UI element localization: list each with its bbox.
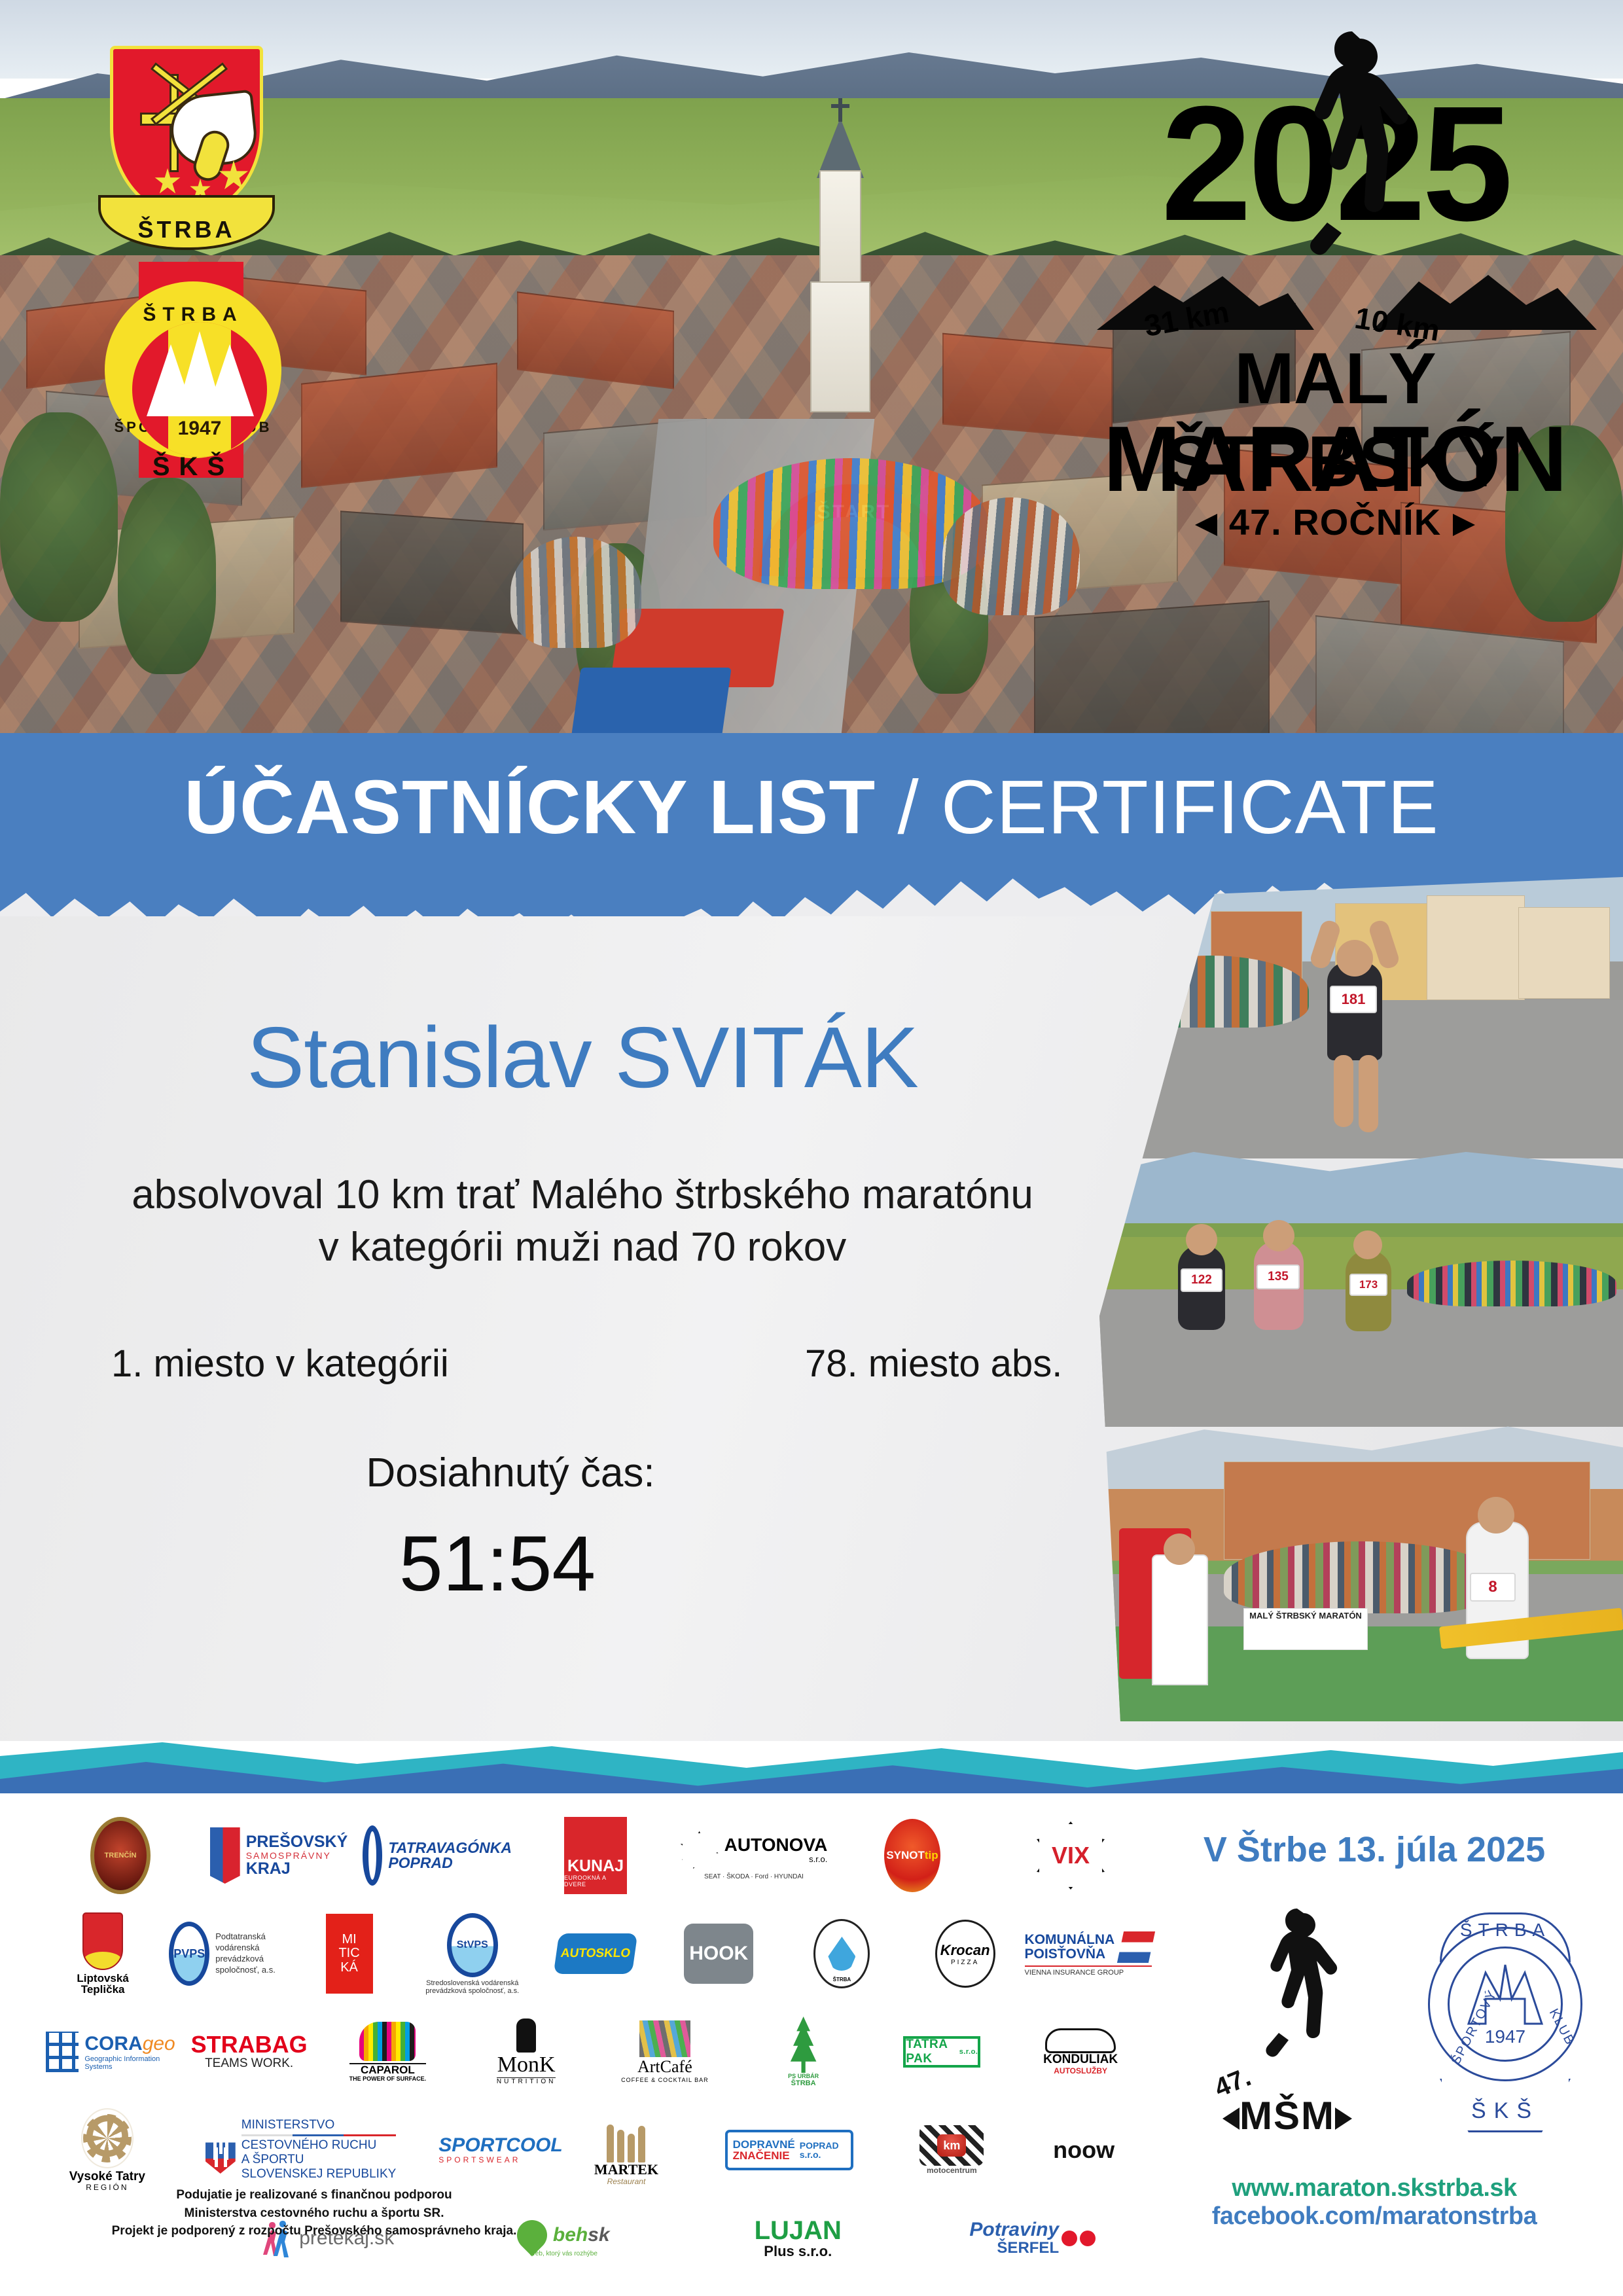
stvps-icon: StVPS <box>447 1913 498 1977</box>
sponsor-label: DOPRAVNÉ <box>733 2139 795 2150</box>
sponsor-hook[interactable]: HOOK <box>662 1915 776 1992</box>
sponsor-sublabel: s.r.o. <box>724 1854 828 1864</box>
crest-ribbon-label: ŠTRBA <box>98 195 275 250</box>
sponsor-label-4: SLOVENSKEJ REPUBLIKY <box>241 2167 397 2181</box>
sponsor-label-2: ZNAČENIE <box>733 2150 795 2161</box>
sks-stamp-abbrev: ŠKŠ <box>1440 2079 1571 2132</box>
funding-note: Podujatie je realizované s finančnou pod… <box>72 2186 556 2240</box>
krocan-pizza-icon: Krocan PIZZA <box>935 1920 995 1988</box>
sponsor-dopravne-znacenie[interactable]: DOPRAVNÉ ZNAČENIE POPRAD s.r.o. <box>697 2111 882 2189</box>
sponsor-label: ArtCafé <box>621 2057 709 2077</box>
sponsor-label-2: POPRAD <box>388 1856 512 1871</box>
sponsor-stvps[interactable]: StVPS Stredoslovenská vodárenská prevádz… <box>416 1915 529 1992</box>
sponsor-label-3: A ŠPORTU <box>241 2153 397 2167</box>
sponsor-row: TRENČÍN PREŠOVSKÝ SAMOSPRÁVNY KRAJ <box>46 1806 1145 1905</box>
pvps-icon: PVPS <box>169 1922 209 1986</box>
car-outline-icon <box>1045 2028 1116 2053</box>
sponsor-label: MonK <box>497 2053 556 2077</box>
sponsor-label-2: geo <box>143 2033 175 2054</box>
sponsor-label-2: Teplička <box>77 1984 128 1995</box>
bib-number: 8 <box>1470 1573 1516 1602</box>
sponsor-liptovska-teplicka[interactable]: Liptovská Teplička <box>46 1915 160 1992</box>
sponsor-label: VIX <box>1052 1842 1090 1869</box>
monk-runner-icon <box>516 2018 536 2053</box>
certificate-title: ÚČASTNÍCKY LIST / CERTIFICATE <box>0 763 1623 851</box>
sponsor-label: LUJAN <box>755 2217 842 2244</box>
komunalna-flag-icon <box>1117 1931 1155 1963</box>
sponsor-ps-urbar-strba[interactable]: PS URBÁR ŠTRBA <box>739 2013 868 2090</box>
event-name-line2: MARATÓN <box>1073 406 1597 513</box>
contact-links: www.maraton.skstrba.sk facebook.com/mara… <box>1152 2174 1597 2231</box>
sponsor-label: AUTONOVA <box>724 1836 828 1855</box>
sponsor-row: CORAgeo Geographic Information Systems S… <box>46 2003 1145 2101</box>
sponsor-sublabel: AUTOSLUŽBY <box>1043 2066 1118 2075</box>
sponsor-caparol[interactable]: CAPAROL THE POWER OF SURFACE. <box>323 2013 453 2090</box>
sponsor-sublabel: Restaurant <box>594 2177 658 2186</box>
athlete-name: Stanislav SVITÁK <box>72 1008 1093 1107</box>
sponsor-label-2: KRAJ <box>246 1861 348 1878</box>
sponsor-program-trencin[interactable]: TRENČÍN <box>46 1817 195 1894</box>
water-drop-icon <box>828 1937 855 1971</box>
sponsor-label: TATRA PAK <box>906 2037 956 2066</box>
sponsor-konduliak[interactable]: KONDULIAK AUTOSLUŽBY <box>1016 2013 1145 2090</box>
sponsor-sublabel: THE POWER OF SURFACE. <box>349 2075 427 2082</box>
sponsor-komunalna-poistovna[interactable]: KOMUNÁLNA POISŤOVŇA VIENNA INSURANCE GRO… <box>1031 1915 1145 1992</box>
sponsor-label: MARTEK <box>594 2162 658 2177</box>
sponsor-sublabel: PIZZA <box>951 1959 979 1966</box>
category-place: 1. miesto v kategórii <box>111 1342 449 1386</box>
funding-note-line-3: Projekt je podporený z rozpočtu Prešovsk… <box>72 2222 556 2240</box>
edition-label: 47. ROČNÍK <box>1229 501 1441 543</box>
sponsor-row: Liptovská Teplička PVPS Podtatranská vod… <box>46 1905 1145 2003</box>
sponsor-tatrapak[interactable]: TATRA PAKs.r.o. <box>878 2013 1007 2090</box>
sponsor-label: KONDULIAK <box>1043 2053 1118 2066</box>
sponsor-label: Liptovská <box>77 1973 128 1984</box>
sponsor-autosklo[interactable]: AUTOSKLO <box>539 1915 652 1992</box>
sponsor-label: KUNAJ <box>567 1858 624 1875</box>
sponsor-label: MINISTERSTVO <box>241 2118 397 2132</box>
tatrapak-icon: TATRA PAKs.r.o. <box>903 2036 980 2068</box>
pd-strba-icon: ŠTRBA <box>813 1919 870 1988</box>
msm-abbrev-wrap: MŠM <box>1222 2093 1352 2138</box>
sks-abbrev: ŠKŠ <box>98 452 288 482</box>
sponsor-martek[interactable]: MARTEK Restaurant <box>565 2111 688 2189</box>
sponsor-label: CORA <box>84 2033 142 2054</box>
sponsor-lujan-plus[interactable]: LUJAN Plus s.r.o. <box>685 2200 911 2277</box>
dot-icon-1 <box>1061 2231 1077 2246</box>
time-label: Dosiahnutý čas: <box>72 1450 949 1496</box>
sponsor-label: HOOK <box>689 1943 748 1965</box>
bib-number: 135 <box>1257 1265 1300 1289</box>
sponsor-label: SYNOT <box>886 1849 925 1862</box>
photo-finish-line: MALÝ ŠTRBSKÝ MARATÓN 8 <box>1099 1424 1623 1721</box>
sponsor-label-2: ŠTRBA <box>787 2079 821 2087</box>
vysoke-tatry-icon <box>81 2108 134 2168</box>
potraviny-serfel-icon: Potraviny ŠERFEL <box>969 2220 1096 2256</box>
sponsor-monk-nutrition[interactable]: MonK NUTRITION <box>461 2013 591 2090</box>
title-english: CERTIFICATE <box>941 764 1439 850</box>
bib-number: 181 <box>1330 986 1377 1013</box>
sponsor-label: noow <box>1053 2136 1115 2164</box>
church-spire <box>817 118 864 178</box>
achievement-line-2: v kategórii muži nad 70 rokov <box>72 1224 1093 1270</box>
sponsor-potraviny-serfel[interactable]: Potraviny ŠERFEL <box>920 2200 1146 2277</box>
sks-outer-ring: ŠTRBA ŠPORTOVÝ KLUB 1947 <box>105 281 281 458</box>
vix-icon: VIX <box>1037 1821 1105 1890</box>
sponsor-label-2: tip <box>925 1849 938 1862</box>
slovak-coat-of-arms-icon <box>205 2126 236 2174</box>
sponsor-label: CAPAROL <box>349 2063 427 2075</box>
sponsor-ministerstvo[interactable]: MINISTERSTVO CESTOVNÉHO RUCHU A ŠPORTU S… <box>178 2111 424 2189</box>
sponsor-label: km <box>937 2134 966 2157</box>
sponsor-label: STRABAG <box>191 2033 308 2057</box>
tatravagonka-icon <box>363 1825 382 1886</box>
sponsor-label-2: TIC <box>338 1946 359 1961</box>
bib-number: 173 <box>1349 1274 1387 1296</box>
sponsor-label: KOMUNÁLNA <box>1025 1933 1115 1946</box>
sponsor-krocan-pizza[interactable]: Krocan PIZZA <box>908 1915 1022 1992</box>
sponsor-pvps[interactable]: PVPS Podtatranská vodárenská prevádzková… <box>169 1915 283 1992</box>
sponsor-kunaj[interactable]: KUNAJ EUROOKNÁ A DVERE <box>521 1817 670 1894</box>
sponsor-label: ŠTRBA <box>815 1977 868 1982</box>
facebook-link[interactable]: facebook.com/maratonstrba <box>1152 2202 1597 2231</box>
sponsor-noow[interactable]: noow <box>1022 2111 1145 2189</box>
sks-club-logo: ŠTRBA ŠPORTOVÝ KLUB 1947 ŠKŠ <box>98 262 288 478</box>
sponsor-strabag[interactable]: STRABAG TEAMS WORK. <box>185 2013 314 2090</box>
sponsor-synot-tip[interactable]: SYNOTtip <box>838 1817 987 1894</box>
sponsor-sublabel: s.r.o. <box>959 2048 978 2056</box>
cutlery-icon <box>602 2114 651 2162</box>
program-trencin-icon: TRENČÍN <box>90 1817 151 1894</box>
event-edition: 47. ROČNÍK <box>1073 501 1597 543</box>
sponsor-corageo[interactable]: CORAgeo Geographic Information Systems <box>46 2013 175 2090</box>
sponsor-sublabel: Stredoslovenská vodárenská <box>425 1979 519 1987</box>
sks-stamp: ŠTRBA 1947 ŠPORTOVÝ KLUB ŠKŠ <box>1414 1898 1597 2147</box>
km-motocentrum-icon: km <box>919 2125 984 2166</box>
sponsor-label: SPORTCOOL <box>438 2136 562 2156</box>
sponsor-sublabel: SPORTSWEAR <box>438 2155 562 2164</box>
sponsor-label-2: ŠERFEL <box>969 2240 1059 2256</box>
miticka-icon: MI TIC KÁ <box>326 1914 373 1994</box>
autonova-burst-icon <box>681 1831 719 1869</box>
sponsor-tatravagonka[interactable]: TATRAVAGÓNKA POPRAD <box>363 1817 512 1894</box>
sks-inner-disc: 1947 <box>132 322 267 457</box>
sponsor-sublabel: Podtatranská vodárenská <box>215 1931 283 1954</box>
sponsor-sublabel: NUTRITION <box>497 2077 556 2085</box>
sponsor-sublabel: Geographic Information Systems <box>84 2055 175 2071</box>
sponsor-label: Potraviny <box>969 2220 1059 2240</box>
crowd-left <box>510 537 641 648</box>
sponsor-autonova[interactable]: AUTONOVA s.r.o. SEAT · ŠKODA · Ford · HY… <box>679 1817 829 1894</box>
runner-silhouette-icon <box>1289 26 1420 308</box>
autonova-brands: SEAT · ŠKODA · Ford · HYUNDAI <box>681 1873 828 1880</box>
crowd-right <box>942 497 1080 615</box>
sponsor-pd-strba[interactable]: ŠTRBA <box>785 1915 899 1992</box>
photo-runners-group: 122 135 173 <box>1099 1152 1623 1427</box>
sponsor-row: Vysoké Tatry REGIÓN MINISTERSTVO CESTOVN… <box>46 2101 1145 2199</box>
liptovska-teplicka-icon <box>82 1912 123 1970</box>
msm-arrow-left-icon <box>1222 2108 1240 2130</box>
title-separator: / <box>876 764 941 850</box>
sponsor-label-2: CESTOVNÉHO RUCHU <box>241 2138 397 2153</box>
sponsor-label: PREŠOVSKÝ <box>246 1834 348 1851</box>
msm-runner-icon <box>1251 1905 1343 2080</box>
noow-icon: noow <box>1053 2136 1115 2164</box>
sponsor-label: StVPS <box>457 1939 488 1951</box>
sponsor-label: beh <box>553 2224 588 2246</box>
sks-year: 1947 <box>132 418 267 440</box>
edition-arrow-left-icon <box>1195 514 1217 536</box>
dopravne-znacenie-icon: DOPRAVNÉ ZNAČENIE POPRAD s.r.o. <box>725 2130 853 2170</box>
funding-note-line-1: Podujatie je realizované s finančnou pod… <box>72 2186 556 2204</box>
sponsor-vysoke-tatry[interactable]: Vysoké Tatry REGIÓN <box>46 2111 169 2189</box>
tree-icon <box>787 2017 821 2073</box>
tent-blue <box>571 668 731 740</box>
msm-stamp: 47. MŠM <box>1211 1905 1374 2140</box>
sponsor-label: MI <box>342 1933 356 1947</box>
sponsor-label-2: POISŤOVŇA <box>1025 1947 1115 1961</box>
certificate-page: ŠTRBA ŠTRBA ŠPORTOVÝ KLUB 1947 ŠKŠ 2025 <box>0 0 1623 2296</box>
sponsor-label: TRENČÍN <box>105 1852 137 1859</box>
sponsor-sublabel: COFFEE & COCKTAIL BAR <box>621 2077 709 2083</box>
msm-abbrev: MŠM <box>1240 2094 1335 2138</box>
sponsor-label: Vysoké Tatry <box>69 2170 145 2183</box>
strba-coat-of-arms: ŠTRBA <box>98 46 275 262</box>
sponsor-km-motocentrum[interactable]: km motocentrum <box>890 2111 1013 2189</box>
crest-shield <box>110 46 263 217</box>
hero-photo: ŠTRBA ŠTRBA ŠPORTOVÝ KLUB 1947 ŠKŠ 2025 <box>0 0 1623 746</box>
event-logo: 2025 31 km 10 km MALÝ ŠTRBSKÝ MARATÓN 47… <box>1073 20 1597 609</box>
title-slovak: ÚČASTNÍCKY LIST <box>184 764 876 850</box>
sponsor-footer: V Štrbe 13. júla 2025 TRENČÍN PREŠOVSKÝ … <box>0 1793 1623 2296</box>
absolute-place: 78. miesto abs. <box>805 1342 1062 1386</box>
website-link[interactable]: www.maraton.skstrba.sk <box>1152 2174 1597 2202</box>
sponsor-label: AUTOSKLO <box>560 1946 631 1961</box>
sponsor-sportcool[interactable]: SPORTCOOL SPORTSWEAR <box>433 2111 556 2189</box>
sponsor-presovsky-kraj[interactable]: PREŠOVSKÝ SAMOSPRÁVNY KRAJ <box>204 1817 353 1894</box>
sponsor-label: PS URBÁR <box>787 2073 821 2079</box>
sponsor-label: PVPS <box>173 1947 205 1961</box>
artcafe-icon <box>639 2020 690 2057</box>
synot-tip-icon: SYNOTtip <box>884 1819 940 1892</box>
msm-arrow-right-icon <box>1335 2108 1352 2130</box>
issue-date: V Štrbe 13. júla 2025 <box>1165 1829 1584 1870</box>
kunaj-icon: KUNAJ EUROOKNÁ A DVERE <box>564 1817 627 1894</box>
church-nave <box>810 281 870 412</box>
finish-banner: MALÝ ŠTRBSKÝ MARATÓN <box>1243 1608 1368 1650</box>
sponsor-sublabel-2: prevádzková spoločnosť, a.s. <box>425 1987 519 1995</box>
sponsor-sublabel: motocentrum <box>919 2166 984 2175</box>
caparol-elephant-icon <box>359 2022 416 2061</box>
sponsor-artcafe[interactable]: ArtCafé COFFEE & COCKTAIL BAR <box>600 2013 730 2090</box>
sponsor-sublabel: EUROOKNÁ A DVERE <box>564 1874 627 1888</box>
sponsor-label-3: KÁ <box>340 1961 358 1975</box>
edition-arrow-right-icon <box>1453 514 1475 536</box>
autosklo-icon: AUTOSKLO <box>554 1933 638 1974</box>
sponsor-label-3: POPRAD s.r.o. <box>800 2141 846 2160</box>
sponsor-label: Krocan <box>940 1942 990 1959</box>
sponsor-sublabel: TEAMS WORK. <box>191 2056 308 2071</box>
sponsor-label: TATRAVAGÓNKA <box>388 1840 512 1856</box>
presovsky-kraj-icon <box>210 1827 240 1884</box>
hook-icon: HOOK <box>684 1924 753 1984</box>
sponsor-miticka[interactable]: MI TIC KÁ <box>292 1915 406 1992</box>
sponsor-sublabel-2: prevádzková spoločnosť, a.s. <box>215 1954 283 1976</box>
sponsor-vix[interactable]: VIX <box>996 1817 1145 1894</box>
achievement-line-1: absolvoval 10 km trať Malého štrbského m… <box>72 1172 1093 1218</box>
corageo-grid-icon <box>46 2032 79 2072</box>
finish-time: 51:54 <box>72 1518 923 1609</box>
funding-note-line-2: Ministerstva cestovného ruchu a športu S… <box>72 2204 556 2223</box>
sponsor-sublabel: VIENNA INSURANCE GROUP <box>1025 1965 1152 1977</box>
sponsor-label-2: Plus s.r.o. <box>755 2244 842 2259</box>
bib-number: 122 <box>1181 1268 1222 1292</box>
sponsor-label-2: sk <box>588 2224 609 2246</box>
crest-star-1 <box>154 168 181 196</box>
dot-icon-2 <box>1080 2231 1096 2246</box>
church-cross <box>838 98 842 122</box>
